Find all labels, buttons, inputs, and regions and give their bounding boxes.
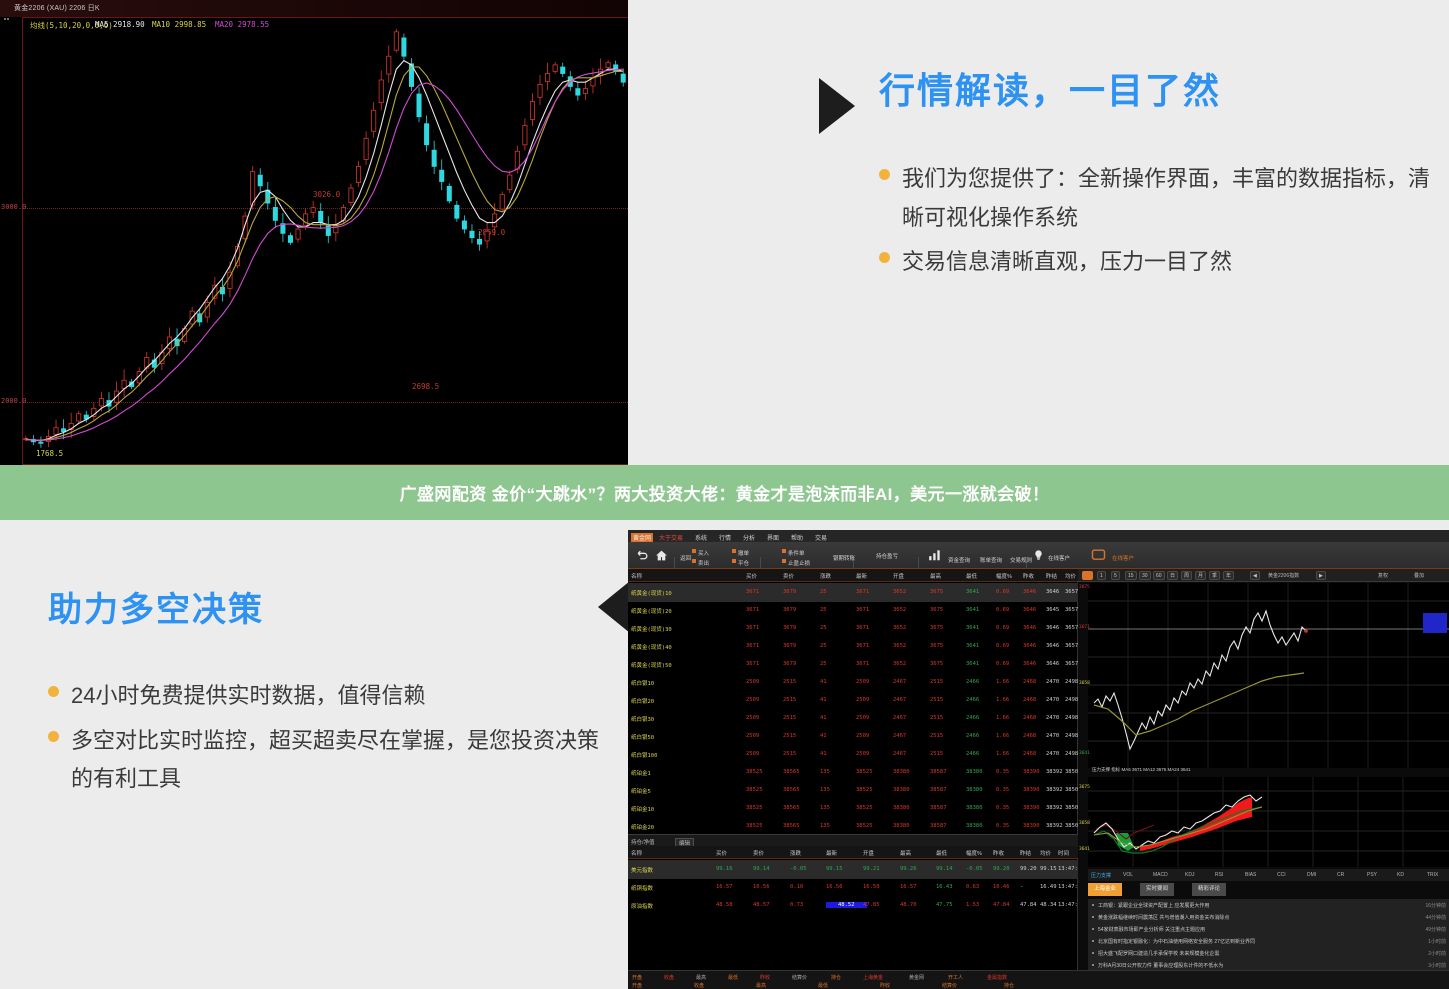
timeframe-月[interactable]: 月 [1195, 571, 1206, 580]
bullet-dot-icon [48, 731, 59, 742]
news-time: 2小时前 [1428, 950, 1446, 957]
top-headline: 行情解读，一目了然 [879, 62, 1439, 114]
row-cell-4: 38380 [893, 823, 910, 829]
timeframe-active[interactable] [1082, 571, 1093, 580]
indicator-tab-KDJ[interactable]: KDJ [1185, 872, 1194, 878]
row-cell-1: 38565 [783, 823, 800, 829]
table-row[interactable]: 美元指数99.1699.14-0.0599.1599.2199.2699.14-… [628, 860, 1078, 879]
row-cell-9: 38392 [1046, 823, 1063, 829]
table-row[interactable]: 纸黄金(现货)10367136792536713652367536410.693… [628, 583, 1078, 602]
holdings-col-9: 昨收 [993, 849, 1004, 857]
footer-item-9[interactable]: 开工人 [948, 974, 963, 981]
bottom-bullet-item-1: 多空对比实时监控，超买超卖尽在掌握，是您投资决策的有利工具 [48, 722, 608, 799]
row-cell-7: 0.35 [996, 769, 1009, 775]
top-callout-arrow-icon [819, 78, 855, 134]
timeframe-next[interactable]: ▶ [1316, 571, 1326, 580]
row-cell-6: 2466 [966, 733, 979, 739]
row-cell-9: - [1020, 884, 1023, 890]
list-item[interactable]: 54家财表融市场即产业分析师 关注重点主题应用49分钟前 [1088, 923, 1449, 935]
row-name: 纸黄金(现货)30 [631, 625, 672, 633]
kline-titlebar: 黄金2206 (XAU) 2206 日K [0, 0, 628, 17]
news-tab-2[interactable]: 精彩评论 [1192, 883, 1226, 896]
row-cell-5: 99.26 [900, 866, 917, 872]
row-cell-0: 16.57 [716, 884, 733, 890]
row-cell-3: 3671 [856, 589, 869, 595]
row-cell-7: 0.35 [996, 787, 1009, 793]
quote-col-3: 涨跌 [820, 572, 831, 580]
row-cell-1: 99.14 [753, 866, 770, 872]
row-cell-7: 1.66 [996, 697, 1009, 703]
table-row[interactable]: 原油指数48.5848.570.7348.5247.8548.7047.751.… [628, 896, 1078, 915]
row-cell-10: 2498 [1065, 733, 1078, 739]
bullet-dot-icon [1092, 916, 1094, 918]
top-bullet-item-0: 我们为您提供了：全新操作界面，丰富的数据指标，清晰可视化操作系统 [879, 160, 1439, 237]
chart-symbol-title: 黄金2206指数 [1268, 572, 1299, 579]
bottom-bullet-text-0: 24小时免费提供实时数据，值得信赖 [71, 677, 425, 716]
row-cell-7: 1.66 [996, 715, 1009, 721]
sub-ylabel-low: 3641 [1079, 847, 1090, 852]
bullet-dot-icon [879, 252, 890, 263]
row-cell-4: 2467 [893, 715, 906, 721]
row-cell-1: 3679 [783, 589, 796, 595]
quote-col-7: 最低 [966, 572, 977, 580]
row-cell-4: 3652 [893, 661, 906, 667]
indicator-tab-压力支撑[interactable]: 压力支撑 [1091, 872, 1111, 879]
toolbar-label-5[interactable]: 持仓盈亏 [876, 552, 898, 560]
table-row[interactable]: 纸白银100250925154125092467251524661.662468… [628, 745, 1078, 764]
row-cell-3: 2509 [856, 751, 869, 757]
sub-ylabel-high: 3675 [1079, 785, 1090, 790]
banner-text: 广盛网配资 金价“大跳水”？两大投资大佬：黄金才是泡沫而非AI，美元一涨就会破！ [400, 480, 1050, 505]
row-cell-0: 2509 [746, 697, 759, 703]
row-cell-0: 38525 [746, 769, 763, 775]
news-title[interactable]: 北京国有时指定银融化：为中石油使用网络安全服务 27亿达到新业界同 [1098, 938, 1388, 945]
row-cell-6: 2466 [966, 679, 979, 685]
timeframe-60[interactable]: 60 [1153, 571, 1165, 580]
row-cell-3: 38525 [856, 769, 873, 775]
indicator-tab-BIAS[interactable]: BIAS [1245, 872, 1256, 878]
footer-item-1[interactable]: 收盘 [664, 974, 674, 981]
bullet-dot-icon [879, 169, 890, 180]
holdings-col-6: 最高 [900, 849, 911, 857]
row-cell-3: 2509 [856, 733, 869, 739]
bottom-bullet-text-1: 多空对比实时监控，超买超卖尽在掌握，是您投资决策的有利工具 [71, 722, 608, 799]
footer-item-7[interactable]: 上海黄金 [863, 974, 883, 981]
row-name: 纸白银50 [631, 733, 654, 741]
home-icon[interactable] [655, 549, 668, 562]
footer-item-0[interactable]: 开盘 [632, 974, 642, 981]
timeframe-季[interactable]: 季 [1209, 571, 1220, 580]
footer-item-5[interactable]: 结算价 [792, 974, 807, 981]
menu-item-1[interactable]: 大于交易 [659, 533, 683, 542]
row-cell-8: 2468 [1023, 733, 1036, 739]
holdings-col-12: 时间 [1058, 849, 1069, 857]
row-cell-5: 48.70 [900, 902, 917, 908]
top-bullet-item-1: 交易信息清晰直观，压力一目了然 [879, 243, 1439, 282]
row-cell-4: 38380 [893, 805, 910, 811]
row-cell-1: 48.57 [753, 902, 770, 908]
row-cell-1: 38565 [783, 769, 800, 775]
footer-sub-0[interactable]: 开盘 [632, 982, 642, 989]
row-cell-0: 2509 [746, 733, 759, 739]
row-cell-1: 3679 [783, 607, 796, 613]
row-cell-7: 0.69 [996, 643, 1009, 649]
row-cell-2: 41 [820, 751, 827, 757]
footer-item-8[interactable]: 黄金网 [909, 974, 924, 981]
quote-col-11: 均价 [1065, 572, 1076, 580]
holdings-col-11: 均价 [1040, 849, 1051, 857]
bottom-bullet-list: 24小时免费提供实时数据，值得信赖 多空对比实时监控，超买超卖尽在掌握，是您投资… [48, 677, 608, 799]
row-cell-5: 2515 [930, 715, 943, 721]
row-cell-3: 3671 [856, 625, 869, 631]
chart-icon[interactable] [928, 548, 942, 562]
row-cell-8: 2468 [1023, 697, 1036, 703]
menu-item-4[interactable]: 分析 [743, 533, 755, 542]
toolbar-label-2a[interactable]: 撤单 [738, 549, 749, 557]
row-cell-8: 38390 [1023, 823, 1040, 829]
news-time: 44分钟前 [1425, 914, 1446, 921]
row-cell-5: 2515 [930, 679, 943, 685]
indicator-tab-TRIX[interactable]: TRIX [1427, 872, 1438, 878]
row-cell-0: 3671 [746, 607, 759, 613]
row-cell-9: 3645 [1046, 607, 1059, 613]
menu-item-3[interactable]: 行情 [719, 533, 731, 542]
indicator-tab-CCI[interactable]: CCI [1277, 872, 1286, 878]
list-item[interactable]: 黄金涨跌幅继续时间震荡区 共与增值潮人用资金关布消除点44分钟前 [1088, 911, 1449, 923]
row-cell-0: 99.16 [716, 866, 733, 872]
top-bullet-text-1: 交易信息清晰直观，压力一目了然 [902, 243, 1232, 282]
menu-item-5[interactable]: 界面 [767, 533, 779, 542]
list-item[interactable]: 工商银：紧跟企业全球资产配置上 应发展更大作用16分钟前 [1088, 899, 1449, 911]
row-cell-10: 3657 [1065, 589, 1078, 595]
row-cell-10: 3657 [1065, 607, 1078, 613]
menu-item-2[interactable]: 系统 [695, 533, 707, 542]
toolbar-label-online[interactable]: 在线客户 [1112, 554, 1134, 562]
row-cell-9: 3646 [1046, 589, 1059, 595]
quote-col-9: 昨收 [1023, 572, 1034, 580]
row-cell-1: 2515 [783, 697, 796, 703]
row-cell-7: 0.69 [996, 589, 1009, 595]
row-name: 纸铂金20 [631, 823, 654, 831]
toolbar-label-1a[interactable]: 买入 [698, 549, 709, 557]
holdings-col-10: 昨结 [1020, 849, 1031, 857]
row-cell-8: 3646 [1023, 589, 1036, 595]
row-cell-7: 0.63 [966, 884, 979, 890]
row-cell-2: 135 [820, 769, 830, 775]
row-cell-7: 0.69 [996, 607, 1009, 613]
row-cell-4: 2467 [893, 751, 906, 757]
menu-item-0[interactable]: 黄金网 [631, 533, 653, 542]
row-name: 纸白银10 [631, 679, 654, 687]
row-cell-1: 3679 [783, 661, 796, 667]
indicator-tab-RSI[interactable]: RSI [1215, 872, 1223, 878]
table-row[interactable]: 纸黄金(现货)50367136792536713652367536410.693… [628, 655, 1078, 674]
indicator-tab-VOL[interactable]: VOL [1123, 872, 1133, 878]
row-cell-10: 16.49 [1040, 884, 1057, 890]
row-cell-5: 3675 [930, 661, 943, 667]
row-cell-1: 2515 [783, 733, 796, 739]
toolbar-label-2b[interactable]: 平仓 [738, 559, 749, 567]
quote-col-6: 最高 [930, 572, 941, 580]
row-cell-2: 0.10 [790, 884, 803, 890]
row-cell-10: 2498 [1065, 697, 1078, 703]
screen-icon[interactable] [1091, 549, 1106, 561]
footer-sub-6[interactable]: 持仓 [1004, 982, 1014, 989]
timeframe-年[interactable]: 年 [1223, 571, 1234, 580]
footer-item-10[interactable]: 金属指数 [987, 974, 1007, 981]
kline-series-svg [22, 26, 627, 458]
table-row[interactable]: 纸铂金103852538565135385253838038587383800.… [628, 799, 1078, 818]
bottom-copy-block: 助力多空决策 24小时免费提供实时数据，值得信赖 多空对比实时监控，超买超卖尽在… [48, 582, 608, 805]
toolbar-label-3a[interactable]: 条件单 [788, 549, 805, 557]
row-cell-1: 38565 [783, 787, 800, 793]
headline-banner: 广盛网配资 金价“大跳水”？两大投资大佬：黄金才是泡沫而非AI，美元一涨就会破！ [0, 465, 1449, 520]
row-cell-9: 38392 [1046, 787, 1063, 793]
row-cell-8: 3646 [1023, 661, 1036, 667]
news-tab-0[interactable]: 上海金业 [1088, 883, 1122, 896]
footer-sub-3[interactable]: 最低 [818, 982, 828, 989]
indicator-subchart: 压力支撑 指标 MA6 3671 MA12 3675 MA24 3641 367… [1088, 777, 1449, 867]
row-name: 纸黄金(现货)10 [631, 589, 672, 597]
row-cell-2: 41 [820, 733, 827, 739]
top-copy-block: 行情解读，一目了然 我们为您提供了：全新操作界面，丰富的数据指标，清晰可视化操作… [879, 62, 1439, 288]
quote-col-5: 开盘 [893, 572, 904, 580]
table-row[interactable]: 纸黄金(现货)40367136792536713652367536410.693… [628, 637, 1078, 656]
chart-ylabel-high: 3675 [1079, 585, 1090, 590]
table-row[interactable]: 纸白银20250925154125092467251524661.6624682… [628, 691, 1078, 710]
row-cell-1: 16.56 [753, 884, 770, 890]
holdings-table-header: 名称买价卖价涨跌最新开盘最高最低幅度%昨收昨结均价时间 [628, 846, 1078, 859]
row-cell-1: 38565 [783, 805, 800, 811]
news-time: 1小时前 [1428, 938, 1446, 945]
chart-panel: 15153060日周月季年◀黄金2206指数▶复权叠加 [1078, 569, 1449, 989]
row-cell-2: 25 [820, 661, 827, 667]
bullet-dot-icon [48, 686, 59, 697]
list-item[interactable]: 北京国有时指定银融化：为中石油使用网络安全服务 27亿达到新业界同1小时前 [1088, 935, 1449, 947]
bullet-dot-icon [1092, 940, 1094, 942]
toolbar-label-3b[interactable]: 止盈止损 [788, 559, 810, 567]
row-cell-9: 2470 [1046, 715, 1059, 721]
chart-opt-0[interactable]: 复权 [1378, 572, 1388, 579]
news-title[interactable]: 万科A月30日公开权力件 董事会应理股东计件的不低水为 [1098, 962, 1388, 969]
row-cell-8: 38390 [1023, 805, 1040, 811]
row-cell-4: 2467 [893, 697, 906, 703]
top-slide-section: 黄金2206 (XAU) 2206 日K 均线(5,10,20,0,0,0) M… [0, 0, 1449, 465]
footer-sub-4[interactable]: 昨收 [880, 982, 890, 989]
toolbar-marker-b-1 [692, 559, 696, 563]
row-cell-0: 38525 [746, 787, 763, 793]
row-name: 美元指数 [631, 866, 653, 874]
terminal-footer: 开盘收盘最高最低昨收结算价持仓上海黄金黄金网开工人金属指数开盘收盘最高最低昨收结… [628, 970, 1449, 989]
table-row[interactable]: 纸白银10250925154125092467251524661.6624682… [628, 673, 1078, 692]
news-tab-bar[interactable]: 上海金业实时要闻精彩评论 [1088, 883, 1449, 896]
timeframe-30[interactable]: 30 [1139, 571, 1151, 580]
row-cell-2: 135 [820, 787, 830, 793]
toolbar-label-1b[interactable]: 卖出 [698, 559, 709, 567]
sub-ylabel-mid: 3658 [1079, 821, 1090, 826]
table-row[interactable]: 纸铂金203852538565135385253838038587383800.… [628, 817, 1078, 836]
toolbar-label-8[interactable]: 交易规则 [1010, 556, 1032, 564]
row-cell-9: 2470 [1046, 679, 1059, 685]
bottom-bullet-item-0: 24小时免费提供实时数据，值得信赖 [48, 677, 608, 716]
toolbar-label-7[interactable]: 账单查询 [980, 556, 1002, 564]
quote-table-panel[interactable]: 名称买价卖价涨跌最新开盘最高最低幅度%昨收昨结均价 持仓/净值编辑 名称买价卖价… [628, 569, 1078, 989]
row-name: 纸铂金10 [631, 805, 654, 813]
row-cell-9: 2470 [1046, 733, 1059, 739]
news-tab-1[interactable]: 实时要闻 [1140, 883, 1174, 896]
row-cell-0: 38525 [746, 805, 763, 811]
row-cell-5: 38587 [930, 769, 947, 775]
row-cell-4: 47.85 [863, 902, 880, 908]
timeframe-1[interactable]: 1 [1097, 571, 1106, 580]
timeframe-prev[interactable]: ◀ [1250, 571, 1260, 580]
news-title[interactable]: 工商银：紧跟企业全球资产配置上 应发展更大作用 [1098, 902, 1388, 909]
kline-chart-screenshot: 黄金2206 (XAU) 2206 日K 均线(5,10,20,0,0,0) M… [0, 0, 628, 465]
row-cell-6: 47.75 [936, 902, 953, 908]
row-cell-9: 47.84 [1020, 902, 1037, 908]
row-cell-10: 3657 [1065, 625, 1078, 631]
row-cell-6: 3641 [966, 661, 979, 667]
row-name: 纸铂金5 [631, 787, 651, 795]
quote-col-2: 卖价 [783, 572, 794, 580]
row-cell-8: 2468 [1023, 715, 1036, 721]
holdings-tab-0[interactable]: 持仓/净值 [631, 838, 655, 846]
row-cell-10: 48.34 [1040, 902, 1057, 908]
indicator-tab-PSY[interactable]: PSY [1367, 872, 1377, 878]
holdings-col-7: 最低 [936, 849, 947, 857]
row-cell-2: 25 [820, 607, 827, 613]
row-cell-10: 99.15 [1040, 866, 1057, 872]
row-cell-8: 99.20 [993, 866, 1010, 872]
chart-ylabel-base: 3658 [1079, 681, 1090, 686]
table-row[interactable]: 纸白银30250925154125092467251524661.6624682… [628, 709, 1078, 728]
holdings-col-5: 开盘 [863, 849, 874, 857]
row-cell-6: 3641 [966, 589, 979, 595]
news-time: 3小时前 [1428, 962, 1446, 969]
row-cell-5: 2515 [930, 697, 943, 703]
row-cell-5: 3675 [930, 643, 943, 649]
timeframe-bar[interactable]: 15153060日周月季年◀黄金2206指数▶复权叠加 [1078, 569, 1449, 582]
row-cell-1: 2515 [783, 679, 796, 685]
list-item[interactable]: 招大盛飞配罗网口建造几乎承保学校 未来规模金化企需2小时前 [1088, 947, 1449, 959]
row-cell-2: 25 [820, 589, 827, 595]
row-cell-2: 41 [820, 697, 827, 703]
row-cell-6: 3641 [966, 625, 979, 631]
row-cell-3: 38525 [856, 787, 873, 793]
row-cell-7: 0.69 [996, 625, 1009, 631]
row-cell-7: 0.35 [996, 805, 1009, 811]
timeframe-日[interactable]: 日 [1167, 571, 1178, 580]
row-cell-3: 3671 [856, 643, 869, 649]
bullet-dot-icon [1092, 904, 1094, 906]
row-cell-5: 38587 [930, 787, 947, 793]
toolbar-marker-3 [782, 549, 786, 553]
toolbar-label-4[interactable]: 银期转账 [833, 554, 855, 562]
news-title[interactable]: 54家财表融市场即产业分析师 关注重点主题应用 [1098, 926, 1388, 933]
row-cell-8: 2468 [1023, 751, 1036, 757]
row-cell-8: 38390 [1023, 769, 1040, 775]
row-cell-3: 3671 [856, 607, 869, 613]
row-cell-0: 3671 [746, 643, 759, 649]
row-cell-3: 38525 [856, 823, 873, 829]
footer-item-4[interactable]: 昨收 [760, 974, 770, 981]
timeframe-5[interactable]: 5 [1111, 571, 1120, 580]
row-cell-5: 2515 [930, 733, 943, 739]
pressure-support-svg [1088, 777, 1449, 867]
indicator-tab-bar[interactable]: 压力支撑VOLMACDKDJRSIBIASCCIDMICRPSYKDTRIX [1088, 869, 1449, 881]
indicator-tab-MACD[interactable]: MACD [1153, 872, 1168, 878]
toolbar-marker-2 [732, 549, 736, 553]
terminal-menubar: 黄金网大于交易系统行情分析界面帮助交易 [628, 530, 1449, 542]
timeframe-15[interactable]: 15 [1125, 571, 1137, 580]
row-cell-4: 2467 [893, 679, 906, 685]
indicator-tab-CR[interactable]: CR [1337, 872, 1344, 878]
news-title[interactable]: 黄金涨跌幅继续时间震荡区 共与增值潮人用资金关布消除点 [1098, 914, 1388, 921]
table-row[interactable]: 纸铂金13852538565135385253838038587383800.3… [628, 763, 1078, 782]
indicator-tab-DMI[interactable]: DMI [1307, 872, 1316, 878]
row-cell-8: 2468 [1023, 679, 1036, 685]
footer-sub-1[interactable]: 收盘 [694, 982, 704, 989]
toolbar-marker-b-2 [732, 559, 736, 563]
row-cell-7: 1.66 [996, 751, 1009, 757]
menu-item-7[interactable]: 交易 [815, 533, 827, 542]
bulb-icon[interactable] [1033, 548, 1044, 562]
footer-sub-2[interactable]: 最高 [756, 982, 766, 989]
row-name: 纸黄金(现货)40 [631, 643, 672, 651]
news-title[interactable]: 招大盛飞配罗网口建造几乎承保学校 未来规模金化企需 [1098, 950, 1388, 957]
row-cell-0: 3671 [746, 661, 759, 667]
footer-item-3[interactable]: 最低 [728, 974, 738, 981]
table-row[interactable]: 纸铜指数16.5716.560.1016.5616.5016.5716.430.… [628, 878, 1078, 897]
row-cell-6: 3641 [966, 607, 979, 613]
row-cell-2: 0.73 [790, 902, 803, 908]
row-cell-6: 3641 [966, 643, 979, 649]
row-cell-3: 2509 [856, 679, 869, 685]
row-cell-0: 2509 [746, 715, 759, 721]
row-cell-4: 38380 [893, 787, 910, 793]
top-bullet-list: 我们为您提供了：全新操作界面，丰富的数据指标，清晰可视化操作系统 交易信息清晰直… [879, 160, 1439, 282]
bottom-callout-arrow-icon [598, 581, 630, 633]
menu-item-6[interactable]: 帮助 [791, 533, 803, 542]
timeframe-周[interactable]: 周 [1181, 571, 1192, 580]
row-name: 原油指数 [631, 902, 653, 910]
row-cell-4: 2467 [893, 733, 906, 739]
row-name: 纸铂金1 [631, 769, 651, 777]
toolbar-label-6[interactable]: 资金查询 [948, 556, 970, 564]
chart-opt-1[interactable]: 叠加 [1414, 572, 1424, 579]
row-cell-5: 38587 [930, 823, 947, 829]
table-row[interactable]: 纸黄金(现货)20367136792536713652367536410.693… [628, 601, 1078, 620]
holdings-col-8: 幅度% [966, 849, 982, 857]
row-cell-1: 3679 [783, 643, 796, 649]
toolbar-label-9[interactable]: 在线客户 [1048, 554, 1070, 562]
footer-item-6[interactable]: 持仓 [831, 974, 841, 981]
toolbar-label-0[interactable]: 返回 [680, 554, 691, 562]
row-cell-6: 16.43 [936, 884, 953, 890]
row-cell-2: 135 [820, 823, 830, 829]
undo-icon[interactable] [636, 549, 649, 562]
table-row[interactable]: 纸黄金(现货)30367136792536713652367536410.693… [628, 619, 1078, 638]
footer-item-2[interactable]: 最高 [696, 974, 706, 981]
table-row[interactable]: 纸铂金53852538565135385253838038587383800.3… [628, 781, 1078, 800]
row-cell-8: 3646 [1023, 607, 1036, 613]
row-cell-7: 1.53 [966, 902, 979, 908]
footer-sub-5[interactable]: 结算价 [942, 982, 957, 989]
holdings-col-3: 涨跌 [790, 849, 801, 857]
indicator-tab-KD[interactable]: KD [1397, 872, 1404, 878]
toolbar-marker-b-3 [782, 559, 786, 563]
table-row[interactable]: 纸白银50250925154125092467251524661.6624682… [628, 727, 1078, 746]
